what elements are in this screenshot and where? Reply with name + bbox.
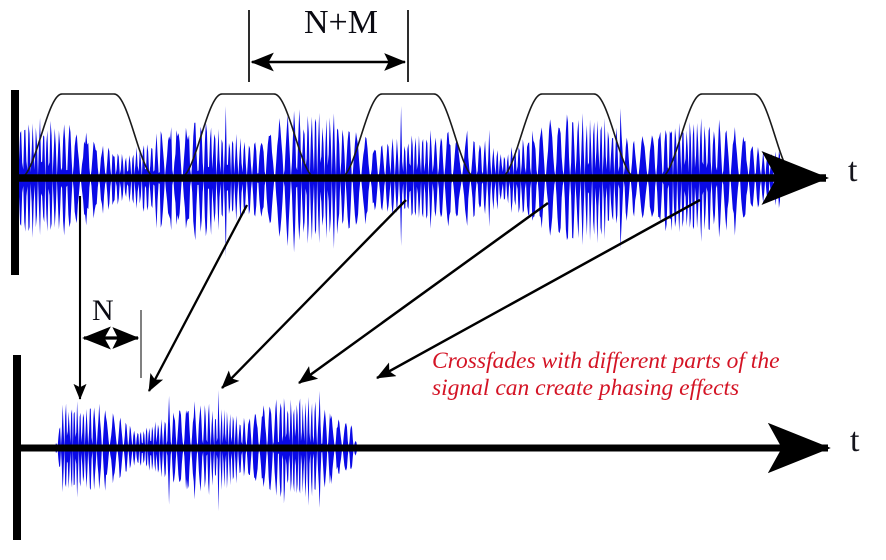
label-n-plus-m: N+M <box>304 6 378 40</box>
annotation-phasing-note: Crossfades with different parts of the s… <box>432 348 872 403</box>
panel-input-signal <box>15 90 826 275</box>
figure-canvas: N+M N t t Crossfades with different part… <box>0 0 886 560</box>
mapping-arrow-3 <box>222 200 406 388</box>
label-n: N <box>92 296 114 326</box>
axis-label-t-input: t <box>848 154 857 188</box>
annotation-line-2: signal can create phasing effects <box>432 375 872 402</box>
waveform-diagram-svg <box>0 0 886 560</box>
annotation-line-1: Crossfades with different parts of the <box>432 348 872 375</box>
axis-label-t-output: t <box>850 424 859 458</box>
mapping-arrow-2 <box>149 205 247 391</box>
